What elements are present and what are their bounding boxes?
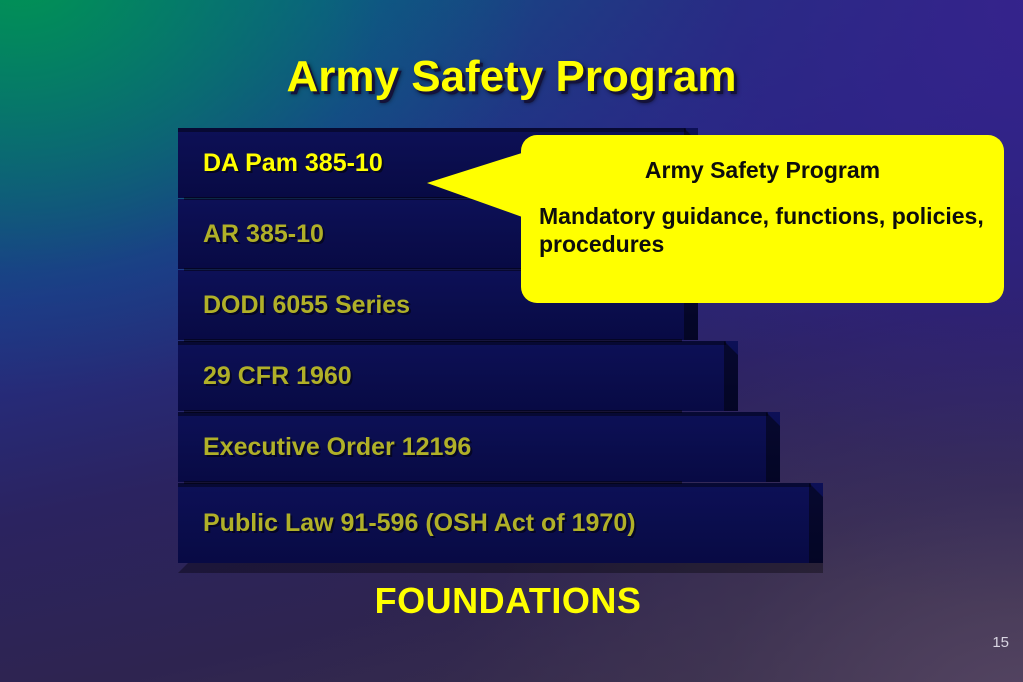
callout-title: Army Safety Program [539,157,986,184]
stair-step-label-0: DA Pam 385-10 [178,149,383,178]
page-number: 15 [992,634,1009,651]
stair-step: 29 CFR 1960 [178,341,738,411]
stair-step-label-4: Executive Order 12196 [178,433,471,462]
stair-step-label-5: Public Law 91-596 (OSH Act of 1970) [178,509,636,538]
stair-step: Executive Order 12196 [178,412,780,482]
foundations-label: FOUNDATIONS [178,580,838,622]
callout-pointer [427,152,525,218]
staircase-base-bevel [178,563,823,573]
stair-step-label-2: DODI 6055 Series [178,291,410,320]
slide-canvas: Army Safety Program DA Pam 385-10 AR 385… [0,0,1023,682]
page-title: Army Safety Program [0,52,1023,102]
step-face: Public Law 91-596 (OSH Act of 1970) [178,483,823,563]
stair-step-label-1: AR 385-10 [178,220,324,249]
step-face: Executive Order 12196 [178,412,780,482]
callout-body: Mandatory guidance, functions, policies,… [539,202,986,258]
callout-box: Army Safety Program Mandatory guidance, … [521,135,1004,303]
step-face: 29 CFR 1960 [178,341,738,411]
stair-step-label-3: 29 CFR 1960 [178,362,352,391]
stair-step: Public Law 91-596 (OSH Act of 1970) [178,483,823,563]
